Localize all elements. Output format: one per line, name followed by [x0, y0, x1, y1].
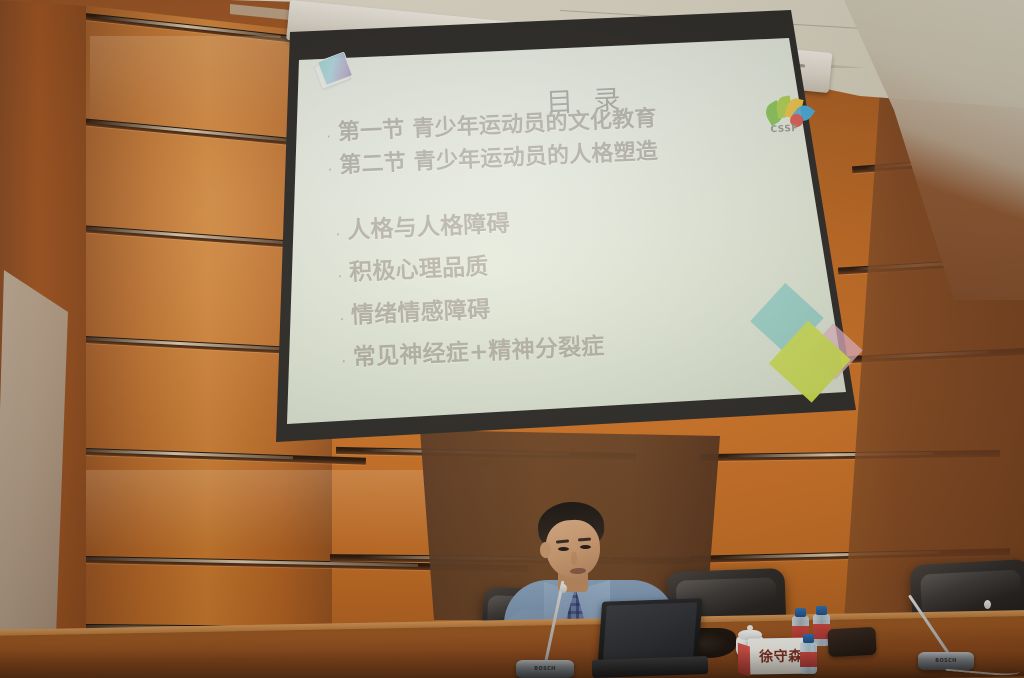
microphone-speaker[interactable]: BOSCH [516, 632, 574, 678]
equipment-bag [827, 627, 876, 657]
laptop-keyboard[interactable] [592, 656, 709, 678]
slide-decor-diamonds [736, 285, 851, 400]
list-item: · 人格与人格障碍 [335, 195, 816, 247]
bullet-icon: · [337, 270, 342, 285]
ear [540, 542, 551, 558]
book-icon [312, 52, 354, 92]
bullet-text: 人格与人格障碍 [347, 209, 511, 247]
cssf-logo: CSSF [765, 95, 821, 141]
bullet-text: 情绪情感障碍 [350, 295, 491, 332]
bottle-cap-icon [795, 608, 806, 617]
bullet-icon: · [327, 163, 332, 178]
bullet-text: 积极心理品质 [349, 252, 490, 289]
laptop[interactable] [592, 600, 704, 678]
laptop-screen [598, 598, 703, 665]
bottle-cap-icon [803, 634, 814, 643]
eye [580, 545, 591, 549]
mic-head-icon [560, 584, 567, 593]
bullet-icon: · [339, 312, 344, 327]
name-card-text: 徐守森 [759, 646, 803, 667]
mic-head-icon [984, 600, 991, 609]
bullet-text: 常见神经症+精神分裂症 [352, 332, 605, 374]
eye [558, 547, 569, 551]
water-bottle[interactable] [800, 634, 817, 674]
bullet-icon: · [335, 227, 340, 242]
mic-brand-label: BOSCH [534, 666, 556, 672]
list-item: · 积极心理品质 [337, 238, 818, 290]
slide-main-bullet-list: · 第一节 青少年运动员的文化教育 · 第二节 青少年运动员的人格塑造 [326, 97, 828, 185]
cssf-logo-label: CSSF [770, 124, 798, 135]
bullet-icon: · [341, 354, 346, 369]
lid-knob-icon [747, 625, 753, 631]
bottle-cap-icon [816, 606, 827, 615]
conference-room-scene: 目 录 · 第一节 青少年运动员的文化教育 · 第二节 青少年运动员的人格塑造 … [0, 0, 1024, 678]
nose [571, 552, 577, 565]
presentation-slide: 目 录 · 第一节 青少年运动员的文化教育 · 第二节 青少年运动员的人格塑造 … [300, 16, 856, 415]
bullet-icon: · [326, 130, 331, 145]
